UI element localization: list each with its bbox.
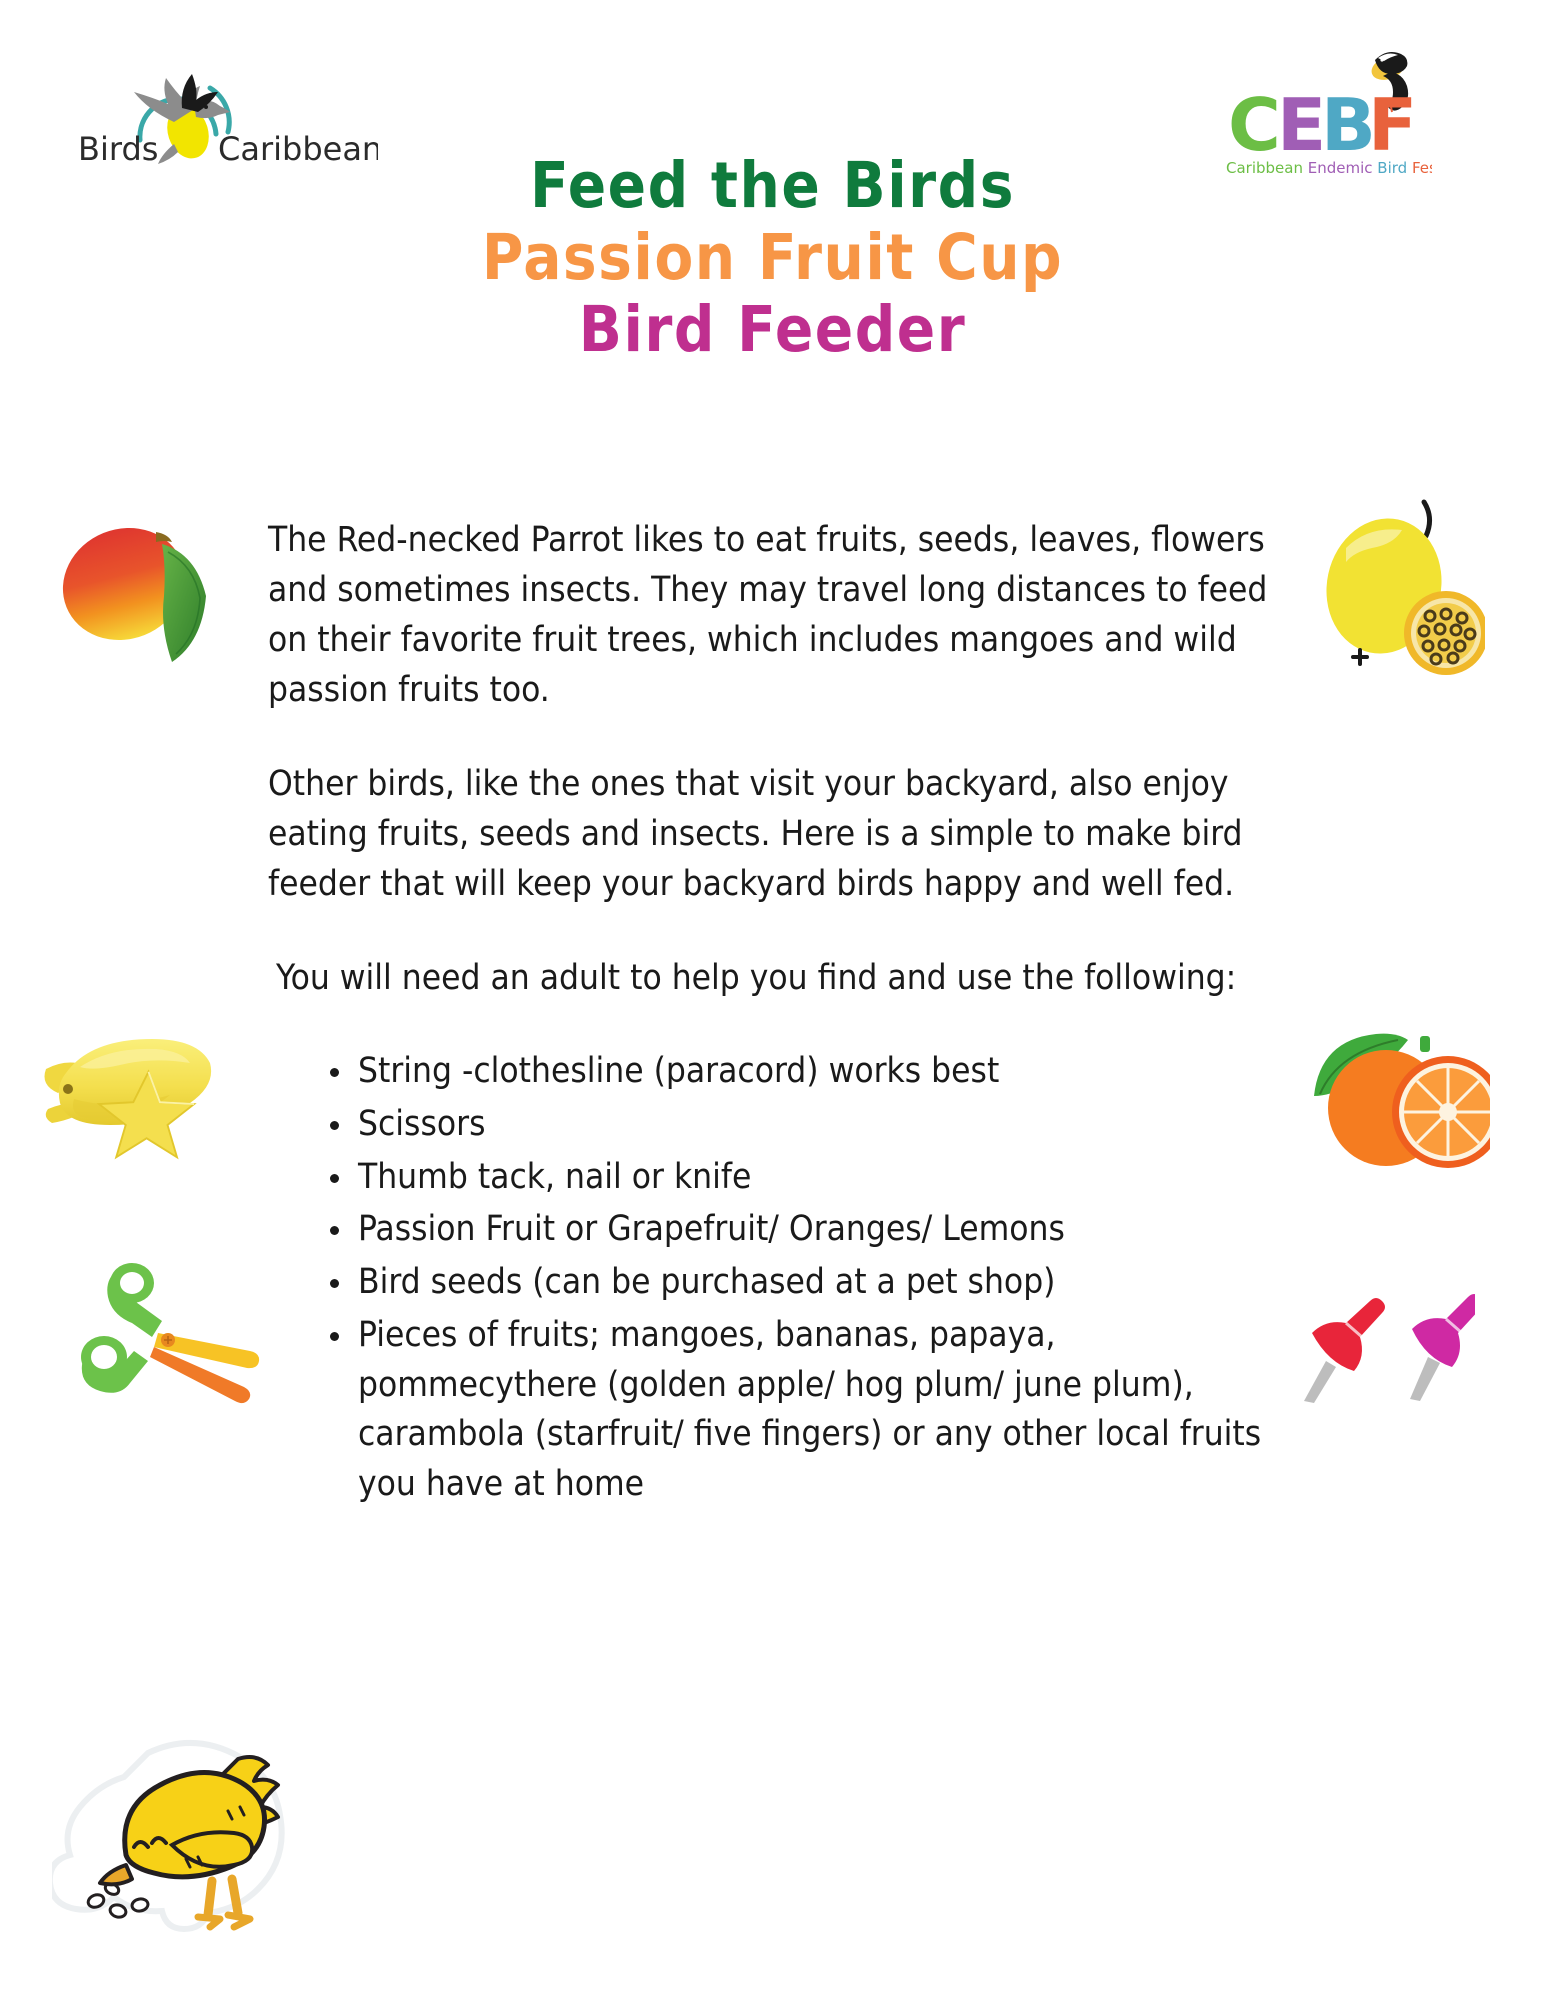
push-pins-illustration [1270, 1245, 1475, 1405]
content-column: The Red-necked Parrot likes to eat fruit… [268, 515, 1298, 1513]
page-title-line-1: Feed the Birds [0, 150, 1545, 222]
supplies-list: String -clothesline (paracord) works bes… [268, 1047, 1298, 1509]
mango-illustration [44, 492, 224, 672]
list-item: Passion Fruit or Grapefruit/ Oranges/ Le… [326, 1205, 1298, 1255]
intro-paragraph-1: The Red-necked Parrot likes to eat fruit… [268, 515, 1298, 715]
page-title-line-3: Bird Feeder [0, 294, 1545, 366]
intro-paragraph-2: Other birds, like the ones that visit yo… [268, 759, 1298, 909]
yellow-bird-illustration [52, 1705, 307, 1950]
page-title-line-2: Passion Fruit Cup [0, 222, 1545, 294]
starfruit-illustration [30, 1005, 225, 1170]
list-item: String -clothesline (paracord) works bes… [326, 1047, 1298, 1097]
list-item: Bird seeds (can be purchased at a pet sh… [326, 1258, 1298, 1308]
list-item: Scissors [326, 1100, 1298, 1150]
push-pin-magenta [1410, 1294, 1475, 1401]
scissors-illustration [62, 1205, 262, 1410]
list-item: Thumb tack, nail or knife [326, 1153, 1298, 1203]
push-pin-red [1304, 1298, 1385, 1403]
supplies-intro-paragraph: You will need an adult to help you find … [276, 953, 1298, 1003]
passion-fruit-illustration [1300, 490, 1485, 680]
title-block: Feed the Birds Passion Fruit Cup Bird Fe… [0, 150, 1545, 365]
list-item: Pieces of fruits; mangoes, bananas, papa… [326, 1311, 1298, 1510]
orange-illustration [1280, 1000, 1490, 1175]
